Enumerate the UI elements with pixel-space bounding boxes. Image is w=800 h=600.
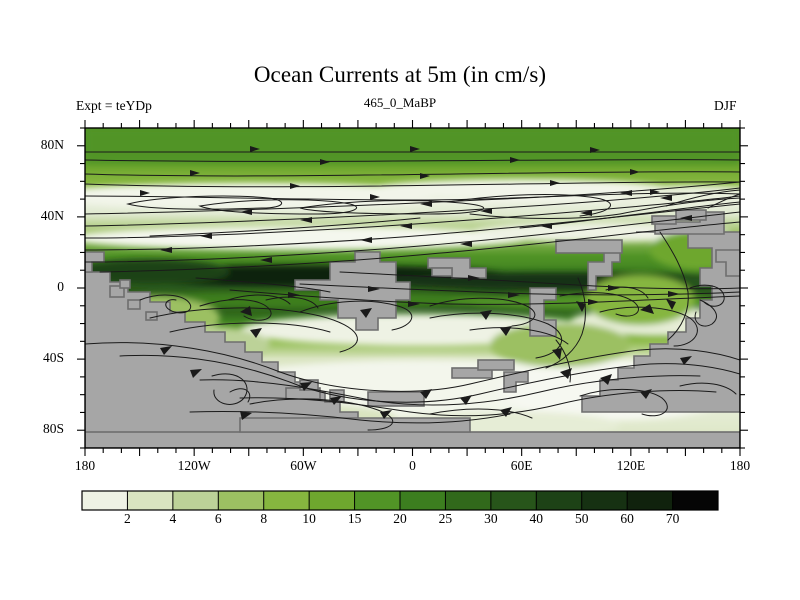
x-tick-label: 0 (383, 458, 443, 474)
colorbar-tick-label: 70 (653, 511, 693, 527)
colorbar-tick-label: 4 (153, 511, 193, 527)
colorbar-tick-label: 6 (198, 511, 238, 527)
figure-canvas: Ocean Currents at 5m (in cm/s) Expt = te… (0, 0, 800, 600)
colorbar-band (82, 491, 128, 510)
colorbar-band (673, 491, 719, 510)
colorbar-tick-label: 10 (289, 511, 329, 527)
y-tick-label: 80N (18, 137, 64, 153)
x-tick-label: 120E (601, 458, 661, 474)
colorbar-tick-label: 60 (607, 511, 647, 527)
colorbar-tick-label: 20 (380, 511, 420, 527)
y-tick-label: 80S (18, 421, 64, 437)
colorbar-band (445, 491, 491, 510)
x-tick-label: 180 (55, 458, 115, 474)
y-tick-label: 40N (18, 208, 64, 224)
y-tick-label: 40S (18, 350, 64, 366)
colorbar-band (627, 491, 673, 510)
colorbar-band (218, 491, 264, 510)
colorbar-band (264, 491, 310, 510)
map-plot-area (60, 128, 760, 448)
colorbar-tick-label: 50 (562, 511, 602, 527)
colorbar-tick-label: 2 (107, 511, 147, 527)
colorbar-band (536, 491, 582, 510)
colorbar-band (127, 491, 173, 510)
map-svg (0, 0, 800, 600)
colorbar-band (582, 491, 628, 510)
colorbar-tick-label: 15 (335, 511, 375, 527)
colorbar (82, 491, 719, 510)
x-tick-label: 60W (273, 458, 333, 474)
colorbar-band (491, 491, 537, 510)
x-tick-label: 120W (164, 458, 224, 474)
colorbar-band (355, 491, 401, 510)
colorbar-band (173, 491, 219, 510)
colorbar-tick-label: 40 (516, 511, 556, 527)
y-tick-label: 0 (18, 279, 64, 295)
colorbar-tick-label: 8 (244, 511, 284, 527)
x-tick-label: 60E (492, 458, 552, 474)
colorbar-tick-label: 30 (471, 511, 511, 527)
colorbar-band (400, 491, 446, 510)
colorbar-tick-label: 25 (425, 511, 465, 527)
x-tick-label: 180 (710, 458, 770, 474)
colorbar-band (309, 491, 355, 510)
